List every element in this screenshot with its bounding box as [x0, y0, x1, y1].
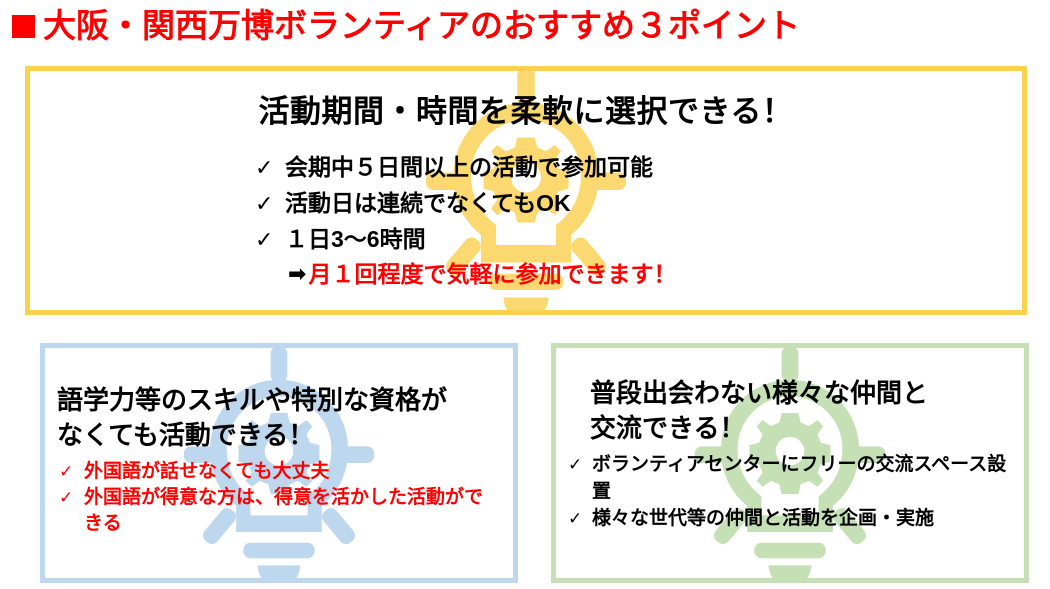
list-item-label: ボランティアセンターにフリーの交流スペース設置 [592, 451, 1012, 505]
point-card-1-highlight-label: 月１回程度で気軽に参加できます！ [308, 259, 676, 289]
check-icon: ✓ [568, 505, 581, 532]
check-icon: ✓ [59, 459, 72, 485]
point-card-1: 活動期間・時間を柔軟に選択できる！ ✓ 会期中５日間以上の活動で参加可能 ✓ 活… [25, 66, 1027, 315]
list-item: ✓ 外国語が得意な方は、得意を活かした活動ができる [59, 485, 513, 537]
check-icon: ✓ [255, 151, 271, 184]
point-card-2-heading-line2: なくても活動できる！ [57, 418, 513, 453]
point-card-1-list: ✓ 会期中５日間以上の活動で参加可能 ✓ 活動日は連続でなくてもOK ✓ １日3… [30, 151, 1022, 256]
point-card-3: 普段出会わない様々な仲間と 交流できる！ ✓ ボランティアセンターにフリーの交流… [551, 343, 1029, 583]
list-item-label: 外国語が話せなくても大丈夫 [84, 459, 329, 485]
list-item: ✓ 外国語が話せなくても大丈夫 [59, 459, 513, 485]
list-item-label: １日3〜6時間 [285, 223, 426, 256]
point-card-3-heading: 普段出会わない様々な仲間と 交流できる！ [556, 348, 1024, 446]
check-icon: ✓ [568, 451, 581, 478]
list-item: ✓ １日3〜6時間 [255, 223, 1022, 256]
point-card-2-heading: 語学力等のスキルや特別な資格が なくても活動できる！ [45, 348, 513, 453]
point-card-3-list: ✓ ボランティアセンターにフリーの交流スペース設置 ✓ 様々な世代等の仲間と活動… [556, 451, 1024, 532]
list-item-label: 様々な世代等の仲間と活動を企画・実施 [592, 505, 934, 532]
point-card-2: 語学力等のスキルや特別な資格が なくても活動できる！ ✓ 外国語が話せなくても大… [40, 343, 518, 583]
point-card-1-heading: 活動期間・時間を柔軟に選択できる！ [30, 95, 1022, 129]
page-title: 大阪・関西万博ボランティアのおすすめ３ポイント [12, 8, 800, 44]
check-icon: ✓ [59, 485, 72, 511]
list-item: ✓ 会期中５日間以上の活動で参加可能 [255, 151, 1022, 184]
check-icon: ✓ [255, 187, 271, 220]
point-card-1-highlight: ➡ 月１回程度で気軽に参加できます！ [30, 259, 1022, 289]
arrow-right-icon: ➡ [288, 259, 306, 289]
list-item: ✓ 活動日は連続でなくてもOK [255, 187, 1022, 220]
title-bullet-icon [12, 15, 35, 38]
point-card-3-heading-line1: 普段出会わない様々な仲間と [590, 376, 1024, 411]
point-card-3-heading-line2: 交流できる！ [590, 411, 1024, 446]
point-card-2-list: ✓ 外国語が話せなくても大丈夫 ✓ 外国語が得意な方は、得意を活かした活動ができ… [45, 459, 513, 537]
list-item-label: 活動日は連続でなくてもOK [285, 187, 571, 220]
list-item-label: 会期中５日間以上の活動で参加可能 [285, 151, 653, 184]
check-icon: ✓ [255, 223, 271, 256]
list-item: ✓ 様々な世代等の仲間と活動を企画・実施 [568, 505, 1024, 532]
page-title-text: 大阪・関西万博ボランティアのおすすめ３ポイント [43, 8, 800, 44]
list-item: ✓ ボランティアセンターにフリーの交流スペース設置 [568, 451, 1024, 505]
point-card-2-heading-line1: 語学力等のスキルや特別な資格が [57, 383, 513, 418]
list-item-label: 外国語が得意な方は、得意を活かした活動ができる [84, 485, 484, 537]
slide-root: 大阪・関西万博ボランティアのおすすめ３ポイント 活動期間・時間を柔軟に選択できる… [0, 0, 1050, 589]
